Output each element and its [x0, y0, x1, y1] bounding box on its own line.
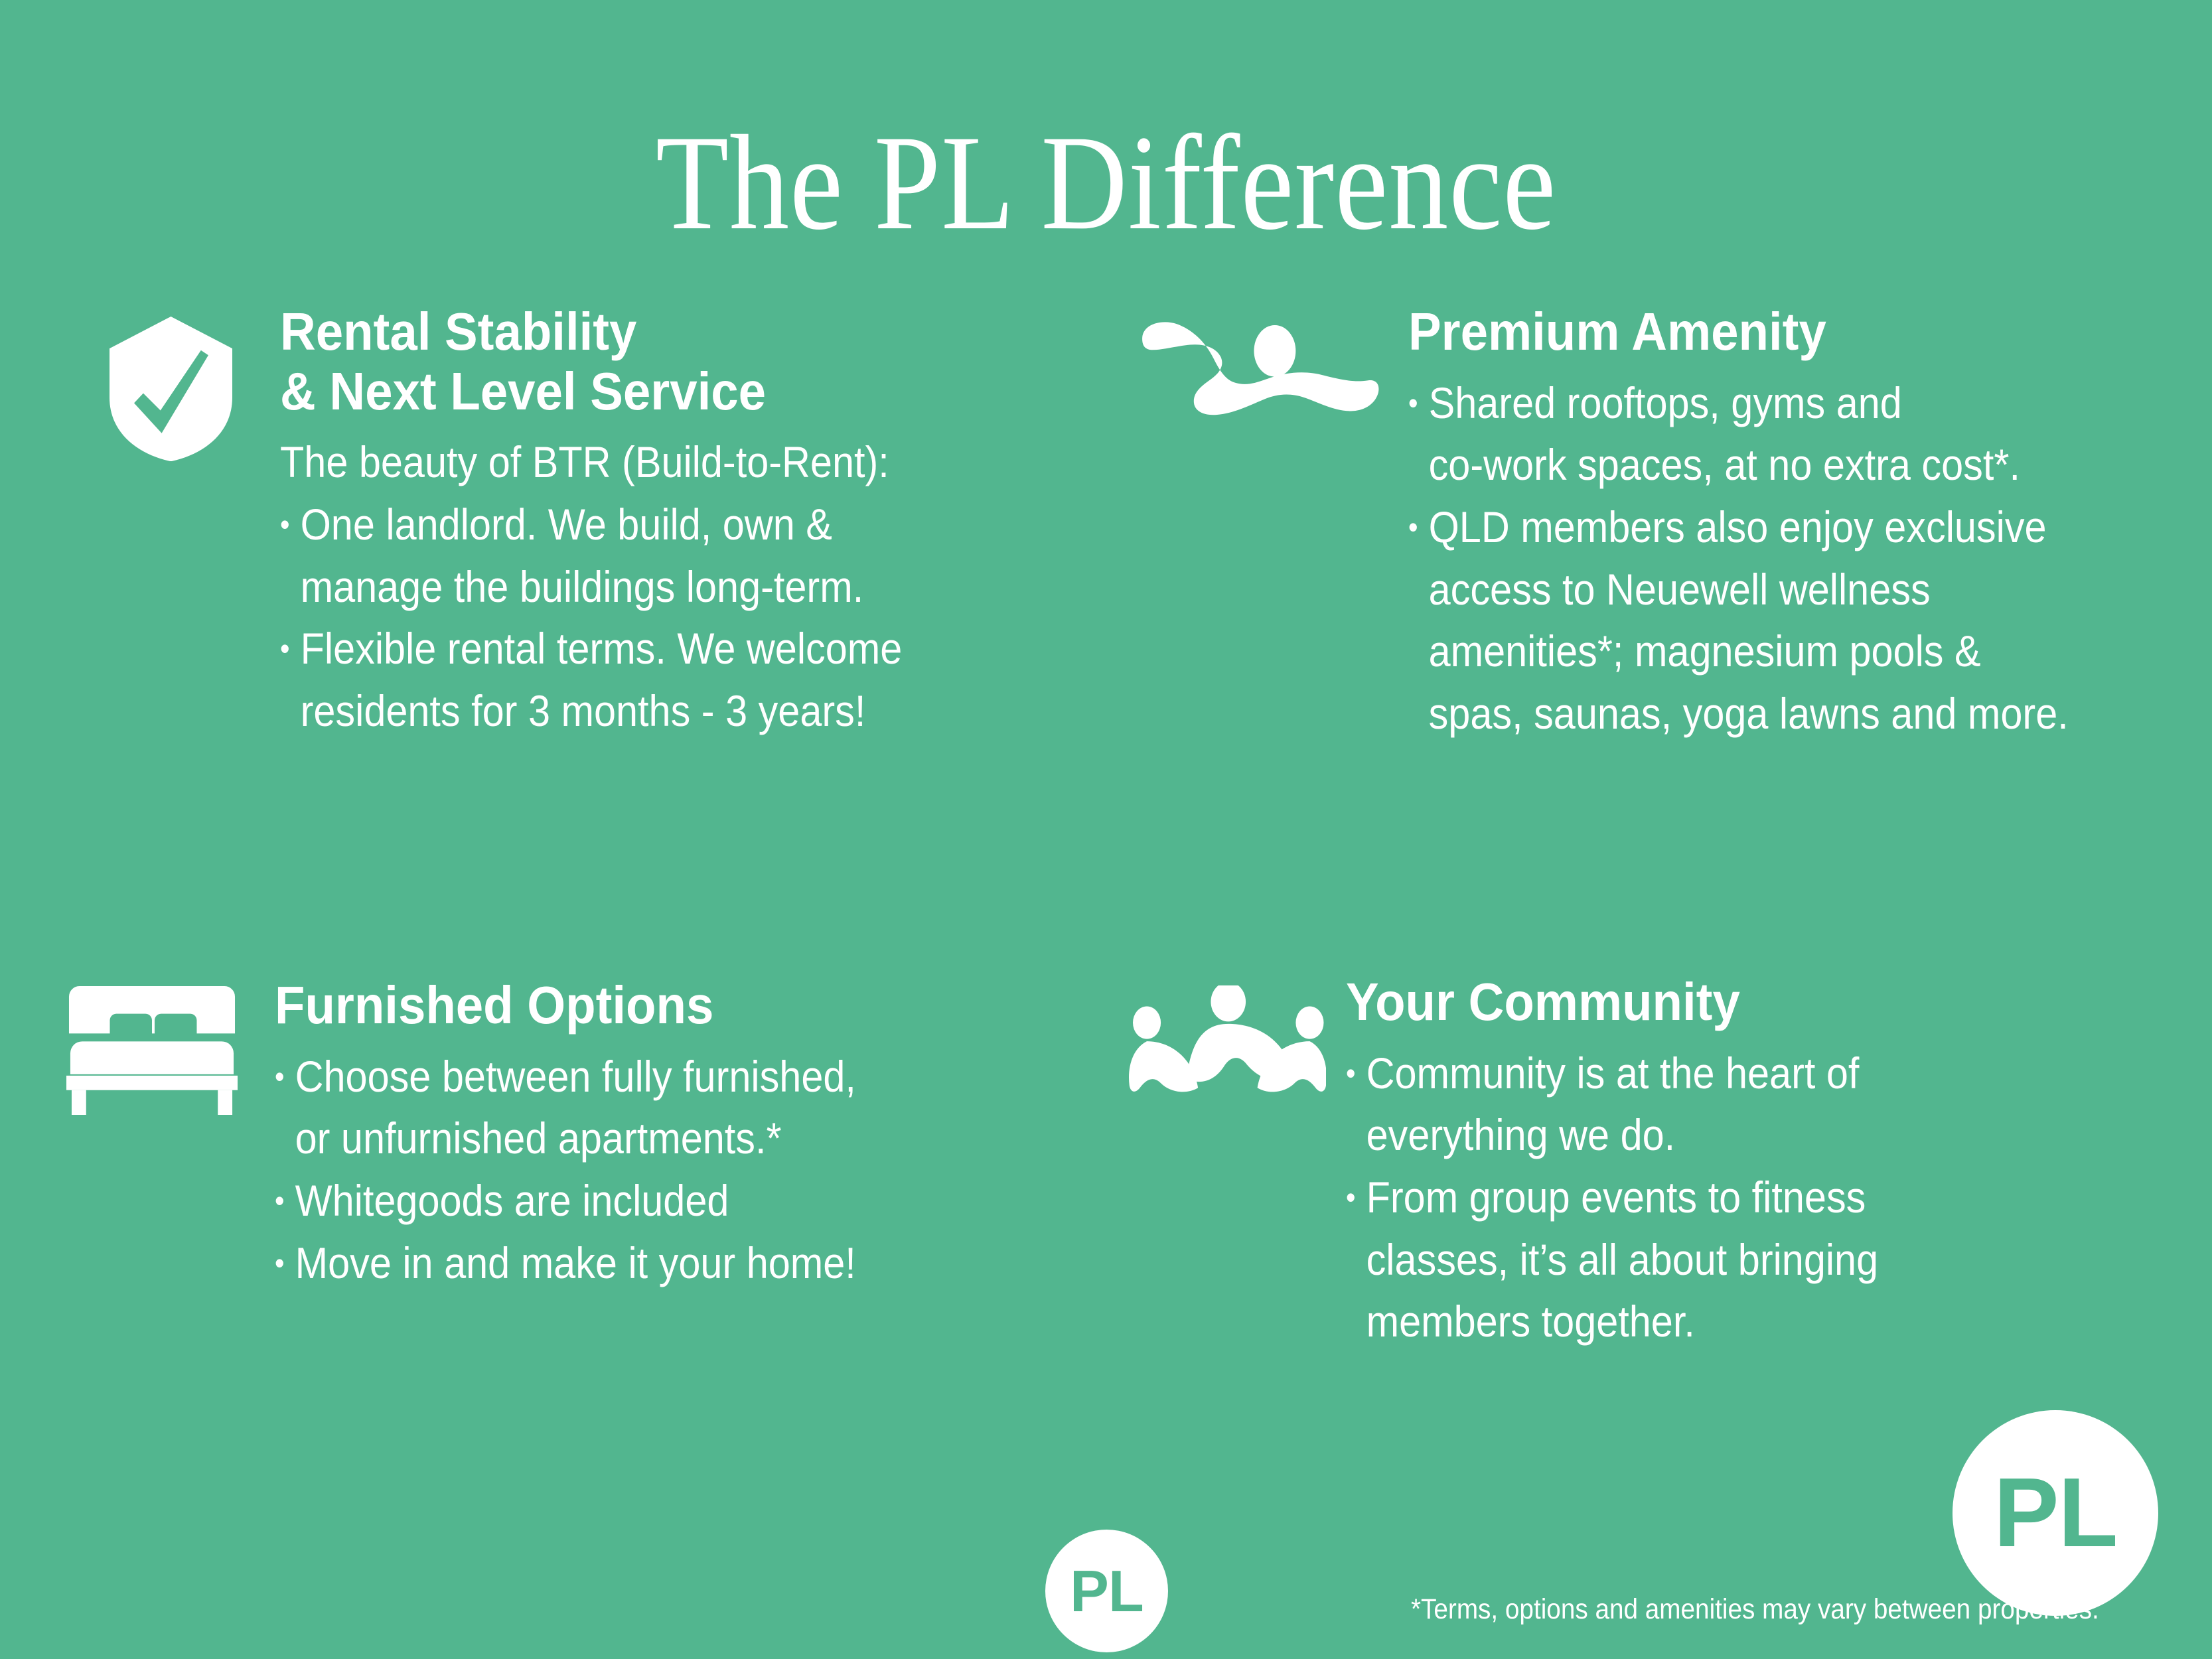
feature-bullet-list: One landlord. We build, own & manage the… — [280, 494, 1039, 743]
page-title: The PL Difference — [133, 107, 2079, 259]
community-people-icon — [1128, 985, 1326, 1114]
feature-bullet-list: Community is at the heart of everything … — [1346, 1043, 2170, 1354]
bullet-item: Flexible rental terms. We welcome reside… — [280, 618, 963, 742]
feature-body: Furnished Options Choose between fully f… — [275, 975, 1042, 1294]
shield-check-icon — [110, 317, 232, 465]
feature-bullet-list: Shared rooftops, gyms and co-work spaces… — [1408, 372, 2170, 745]
pl-logo-badge-large: PL — [1953, 1410, 2158, 1616]
feature-body: Rental Stability & Next Level Service Th… — [280, 302, 1039, 743]
footnote-disclaimer: *Terms, options and amenities may vary b… — [1411, 1593, 2099, 1627]
feature-heading: Premium Amenity — [1408, 302, 2117, 362]
feature-body: Your Community Community is at the heart… — [1346, 972, 2170, 1353]
feature-body: Premium Amenity Shared rooftops, gyms an… — [1408, 302, 2170, 745]
feature-heading: Furnished Options — [275, 975, 988, 1035]
bullet-item: Shared rooftops, gyms and co-work spaces… — [1408, 372, 2094, 496]
feature-card-rental-stability: Rental Stability & Next Level Service Th… — [110, 302, 1039, 743]
feature-card-your-community: Your Community Community is at the heart… — [1128, 972, 2170, 1353]
pl-logo-text: PL — [1994, 1464, 2117, 1562]
feature-card-furnished-options: Furnished Options Choose between fully f… — [66, 975, 1042, 1294]
bed-icon — [66, 983, 238, 1118]
feature-card-premium-amenity: Premium Amenity Shared rooftops, gyms an… — [1135, 302, 2170, 745]
bullet-item: One landlord. We build, own & manage the… — [280, 494, 963, 618]
bullet-item: From group events to fitness classes, it… — [1346, 1167, 2088, 1353]
bullet-item: QLD members also enjoy exclusive access … — [1408, 496, 2094, 745]
bullet-item: Community is at the heart of everything … — [1346, 1043, 2088, 1167]
pl-logo-badge-small: PL — [1045, 1530, 1168, 1652]
bullet-item: Move in and make it your home! — [275, 1232, 965, 1295]
feature-heading: Your Community — [1346, 972, 2112, 1032]
feature-lead-text: The beauty of BTR (Build-to-Rent): — [280, 431, 963, 494]
pl-logo-text: PL — [1070, 1562, 1143, 1621]
bullet-item: Whitegoods are included — [275, 1170, 965, 1232]
swimmer-icon — [1135, 317, 1380, 428]
feature-bullet-list: Choose between fully furnished, or unfur… — [275, 1046, 1042, 1295]
bullet-item: Choose between fully furnished, or unfur… — [275, 1046, 965, 1170]
feature-heading: Rental Stability & Next Level Service — [280, 302, 986, 421]
feature-grid: Rental Stability & Next Level Service Th… — [0, 302, 2212, 1430]
